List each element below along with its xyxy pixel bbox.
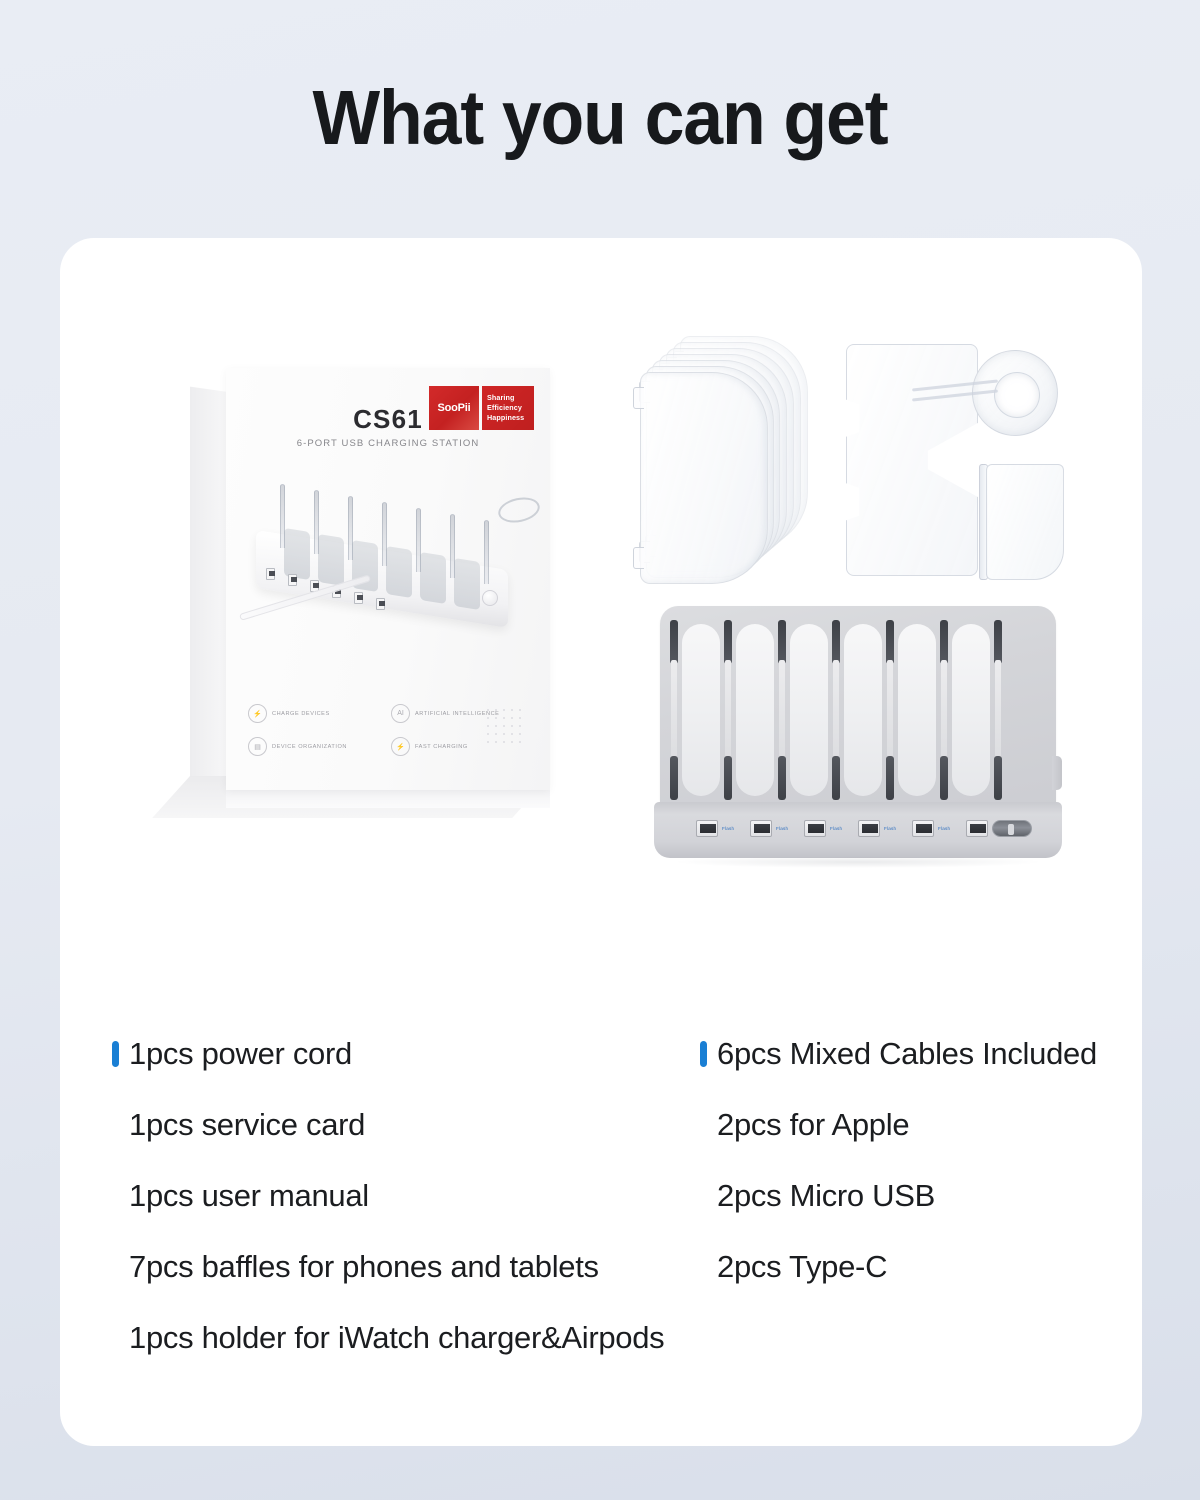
station-pad xyxy=(682,624,720,796)
station-baffle-rib xyxy=(724,620,732,800)
artwork-baffle xyxy=(484,520,489,584)
item-marker xyxy=(700,1254,707,1280)
artwork-baffle xyxy=(348,496,353,560)
baffle-stack xyxy=(640,336,850,586)
station-ground-shadow xyxy=(672,856,1044,868)
artwork-usb-port xyxy=(354,592,363,604)
feature-device-organization: ▤ DEVICE ORGANIZATION xyxy=(248,737,385,756)
artwork-baffle xyxy=(450,514,455,578)
item-label: 1pcs user manual xyxy=(129,1178,369,1214)
artwork-baffle xyxy=(416,508,421,572)
decorative-dot-matrix xyxy=(487,709,524,746)
item-marker xyxy=(700,1183,707,1209)
usb-port-label: Flash xyxy=(776,826,788,831)
artwork-power-button xyxy=(482,590,498,606)
artwork-slot xyxy=(454,558,480,610)
station-baffle-rib xyxy=(940,620,948,800)
usb-port xyxy=(912,820,934,837)
feature-label: FAST CHARGING xyxy=(415,744,468,750)
list-item: 7pcs baffles for phones and tablets xyxy=(112,1231,664,1302)
artwork-usb-port xyxy=(376,598,385,610)
station-baffle-rib xyxy=(832,620,840,800)
artwork-baffle xyxy=(280,484,285,548)
item-marker xyxy=(112,1254,119,1280)
station-baffle-rib xyxy=(670,620,678,800)
tagline-line-3: Happiness xyxy=(487,413,534,423)
feature-charge-devices: ⚡ CHARGE DEVICES xyxy=(248,704,385,723)
product-feature-grid: ⚡ CHARGE DEVICES AI ARTIFICIAL INTELLIGE… xyxy=(248,704,528,756)
list-item: 2pcs for Apple xyxy=(700,1089,1097,1160)
charging-station: Flash Flash Flash Flash Flash Flash xyxy=(648,606,1072,868)
artwork-slot xyxy=(420,552,446,604)
product-box-side-panel xyxy=(190,387,228,790)
product-box-artwork xyxy=(240,464,536,644)
included-items-right-column: 6pcs Mixed Cables Included 2pcs for Appl… xyxy=(700,1018,1097,1302)
item-label: 2pcs for Apple xyxy=(717,1107,909,1143)
usb-port xyxy=(804,820,826,837)
tagline-line-2: Efficiency xyxy=(487,403,534,413)
artwork-baffle xyxy=(314,490,319,554)
fast-charging-icon: ⚡ xyxy=(391,737,410,756)
list-item: 1pcs holder for iWatch charger&Airpods xyxy=(112,1302,664,1373)
station-baffle-rib xyxy=(778,620,786,800)
brand-logo-badge: SooPii xyxy=(429,386,479,430)
usb-port xyxy=(696,820,718,837)
feature-label: DEVICE ORGANIZATION xyxy=(272,744,347,750)
station-front-panel: Flash Flash Flash Flash Flash Flash xyxy=(654,802,1062,858)
station-pad xyxy=(952,624,990,796)
item-label: 1pcs service card xyxy=(129,1107,365,1143)
baffle-plate xyxy=(640,372,768,584)
artwork-watch-holder-ring xyxy=(496,494,542,526)
item-marker xyxy=(700,1112,707,1138)
brand-tagline-badge: Sharing Efficiency Happiness xyxy=(482,386,534,430)
product-box: CS61 6-PORT USB CHARGING STATION SooPii … xyxy=(168,358,588,878)
usb-port-label: Flash xyxy=(830,826,842,831)
artwork-slot xyxy=(318,534,344,586)
usb-port-label: Flash xyxy=(884,826,896,831)
included-items-left-column: 1pcs power cord 1pcs service card 1pcs u… xyxy=(112,1018,664,1373)
item-label: 1pcs power cord xyxy=(129,1036,352,1072)
item-label: 7pcs baffles for phones and tablets xyxy=(129,1249,599,1285)
list-item: 1pcs power cord xyxy=(112,1018,664,1089)
list-item: 2pcs Micro USB xyxy=(700,1160,1097,1231)
brand-badges: SooPii Sharing Efficiency Happiness xyxy=(429,386,534,430)
list-item: 1pcs user manual xyxy=(112,1160,664,1231)
artificial-intelligence-icon: AI xyxy=(391,704,410,723)
power-switch[interactable] xyxy=(992,820,1032,837)
product-box-front-face: CS61 6-PORT USB CHARGING STATION SooPii … xyxy=(226,368,550,790)
station-top-surface xyxy=(660,606,1056,814)
item-label: 6pcs Mixed Cables Included xyxy=(717,1036,1097,1072)
tagline-line-1: Sharing xyxy=(487,393,534,403)
device-organization-icon: ▤ xyxy=(248,737,267,756)
item-label: 2pcs Type-C xyxy=(717,1249,887,1285)
charge-devices-icon: ⚡ xyxy=(248,704,267,723)
item-label: 2pcs Micro USB xyxy=(717,1178,935,1214)
list-item: 1pcs service card xyxy=(112,1089,664,1160)
list-item: 6pcs Mixed Cables Included xyxy=(700,1018,1097,1089)
station-pad xyxy=(844,624,882,796)
item-label: 1pcs holder for iWatch charger&Airpods xyxy=(129,1320,664,1356)
item-marker xyxy=(112,1041,119,1067)
content-card: CS61 6-PORT USB CHARGING STATION SooPii … xyxy=(60,238,1142,1446)
station-pad xyxy=(790,624,828,796)
station-pad xyxy=(898,624,936,796)
list-item: 2pcs Type-C xyxy=(700,1231,1097,1302)
usb-port-label: Flash xyxy=(938,826,950,831)
usb-port xyxy=(966,820,988,837)
station-baffle-rib xyxy=(994,620,1002,800)
station-side-nub xyxy=(1052,756,1062,790)
artwork-baffle xyxy=(382,502,387,566)
iwatch-airpods-holder xyxy=(840,338,1070,588)
usb-port-label: Flash xyxy=(722,826,734,831)
holder-body xyxy=(846,344,978,576)
artwork-slot xyxy=(284,528,310,580)
station-baffle-rib xyxy=(886,620,894,800)
usb-port xyxy=(750,820,772,837)
feature-label: CHARGE DEVICES xyxy=(272,711,330,717)
artwork-usb-port xyxy=(288,574,297,586)
item-marker xyxy=(112,1325,119,1351)
product-box-subtitle: 6-PORT USB CHARGING STATION xyxy=(226,438,550,449)
artwork-slot xyxy=(386,546,412,598)
item-marker xyxy=(112,1183,119,1209)
usb-port xyxy=(858,820,880,837)
station-pad xyxy=(736,624,774,796)
artwork-usb-port xyxy=(266,568,275,580)
item-marker xyxy=(700,1041,707,1067)
item-marker xyxy=(112,1112,119,1138)
holder-clip-panel xyxy=(986,464,1064,580)
page-title: What you can get xyxy=(42,74,1158,163)
